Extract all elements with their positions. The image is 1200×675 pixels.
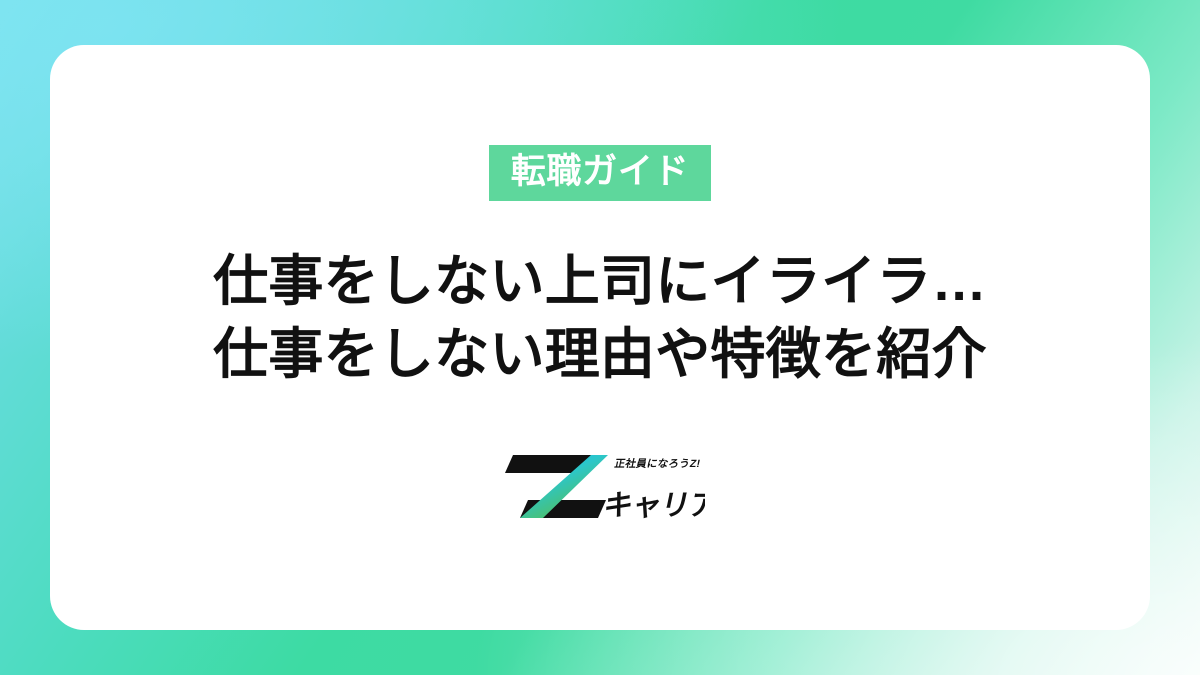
content-card: 転職ガイド 仕事をしない上司にイライラ… 仕事をしない理由や特徴を紹介 <box>50 45 1150 630</box>
logo-tagline: 正社員になろうZ! <box>613 457 701 470</box>
page-title-line-2: 仕事をしない理由や特徴を紹介 <box>213 318 987 391</box>
svg-text:キャリア: キャリア <box>601 489 705 522</box>
page-title-line-1: 仕事をしない上司にイライラ… <box>213 245 987 318</box>
brand-logo-artwork: 正社員になろうZ! キャリア <box>495 444 705 528</box>
brand-logo: 正社員になろうZ! キャリア <box>495 444 705 528</box>
category-badge: 転職ガイド <box>489 145 712 201</box>
svg-text:正社員になろうZ!: 正社員になろうZ! <box>613 457 701 470</box>
page-title: 仕事をしない上司にイライラ… 仕事をしない理由や特徴を紹介 <box>213 245 987 390</box>
logo-z-mark <box>505 455 608 518</box>
poster-canvas: 転職ガイド 仕事をしない上司にイライラ… 仕事をしない理由や特徴を紹介 <box>0 0 1200 675</box>
logo-wordmark: キャリア <box>601 489 705 522</box>
